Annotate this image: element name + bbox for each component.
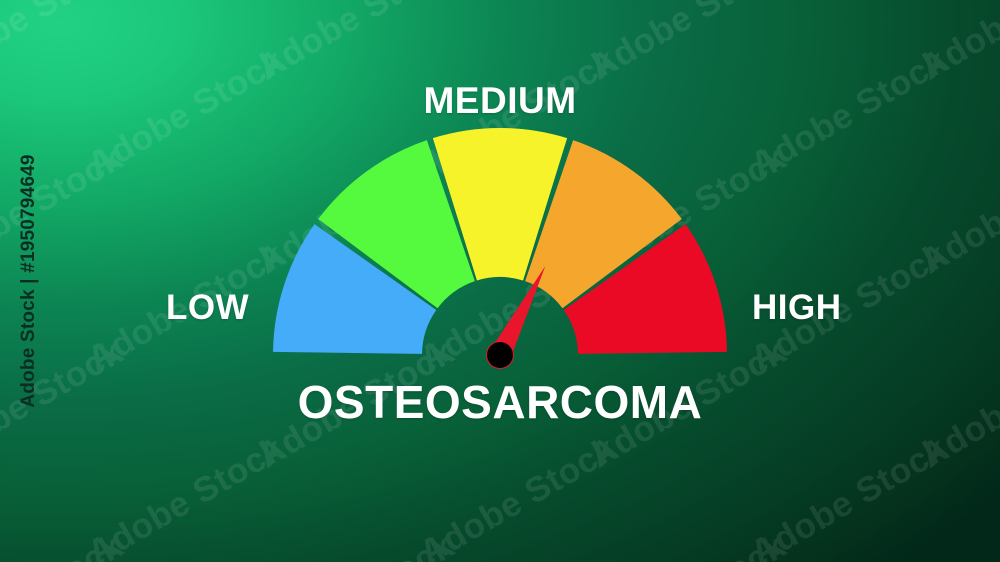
gauge-label-medium: MEDIUM	[0, 80, 1000, 122]
gauge-needle-group	[486, 266, 545, 369]
stock-credit-text: Adobe Stock | #1950794649	[18, 154, 40, 407]
gauge-segment-group	[273, 128, 727, 354]
gauge-title: OSTEOSARCOMA	[0, 375, 1000, 429]
gauge-label-low: LOW	[166, 288, 249, 328]
gauge-needle-hub	[487, 342, 513, 368]
gauge-infographic: Adobe StockAdobe StockAdobe StockAdobe S…	[0, 0, 1000, 562]
stock-credit: Adobe Stock | #1950794649	[12, 0, 46, 562]
gauge-label-high: HIGH	[752, 288, 842, 328]
